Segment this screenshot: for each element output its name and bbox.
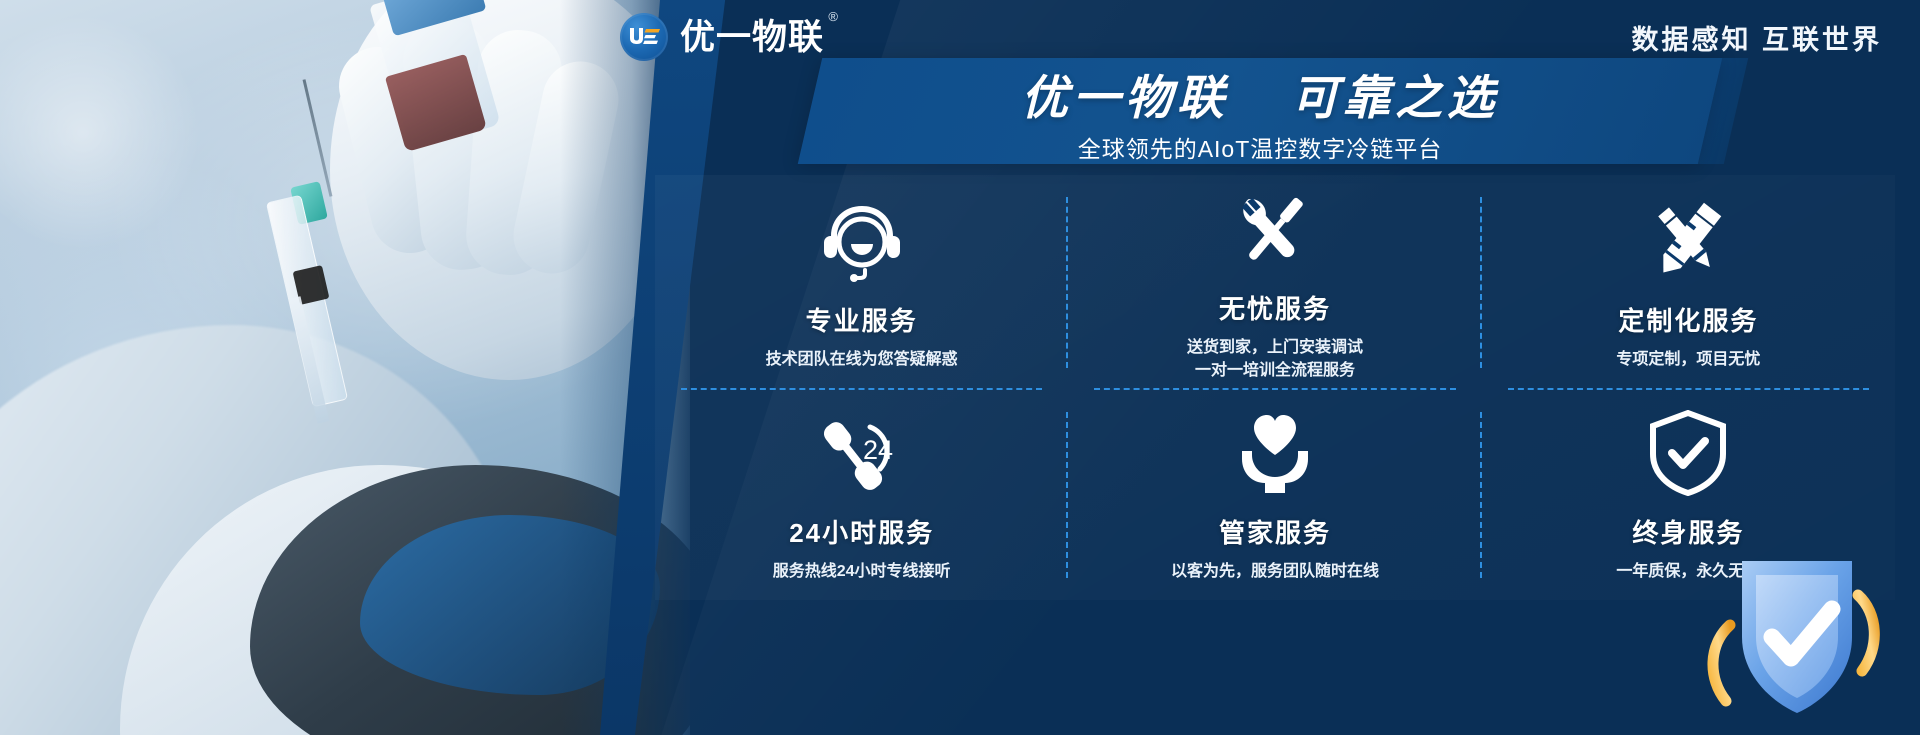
brand-name: 优一物联 ®: [680, 20, 824, 55]
brand-name-text: 优一物联: [680, 18, 824, 57]
service-card-desc-line: 服务热线24小时专线接听: [773, 560, 951, 583]
shield-check-badge-icon: [1702, 551, 1892, 731]
service-card-desc-line: 技术团队在线为您答疑解惑: [766, 348, 958, 371]
service-card-title: 无忧服务: [1219, 289, 1331, 326]
service-card-customized[interactable]: 定制化服务 专项定制，项目无忧: [1482, 175, 1895, 390]
wrench-screwdriver-tools-icon: [1231, 183, 1319, 275]
service-card-desc-line: 送货到家，上门安装调试: [1187, 336, 1363, 359]
service-card-worryfree[interactable]: 无忧服务 送货到家，上门安装调试 一对一培训全流程服务: [1068, 175, 1481, 390]
service-card-butler[interactable]: 管家服务 以客为先，服务团队随时在线: [1068, 390, 1481, 600]
service-card-title: 24小时服务: [789, 513, 934, 550]
headline-part-right: 可靠之选: [1291, 71, 1499, 124]
shield-check-icon: [1648, 407, 1728, 499]
sub-headline: 全球领先的AIoT温控数字冷链平台: [1078, 130, 1443, 164]
header-tagline: 数据感知 互联世界: [1631, 18, 1882, 57]
phone-24h-icon: 24: [816, 407, 908, 499]
brand-logo[interactable]: 优一物联 ®: [620, 13, 824, 61]
service-card-desc-line: 以客为先，服务团队随时在线: [1171, 560, 1379, 583]
photo-needle: [303, 79, 333, 197]
registered-trademark-symbol: ®: [828, 10, 839, 23]
service-card-desc: 以客为先，服务团队随时在线: [1171, 560, 1379, 583]
hero-photo-vaccine-syringe: [0, 0, 690, 735]
service-card-desc-line: 一对一培训全流程服务: [1187, 359, 1363, 382]
service-card-title: 专业服务: [806, 301, 918, 338]
service-card-desc: 专项定制，项目无忧: [1616, 348, 1760, 371]
ue-monogram-icon: [620, 13, 668, 61]
service-card-title: 终身服务: [1632, 513, 1744, 550]
headset-support-icon: [819, 195, 905, 287]
service-card-desc-line: 专项定制，项目无忧: [1616, 348, 1760, 371]
service-card-desc: 技术团队在线为您答疑解惑: [766, 348, 958, 371]
service-card-title: 定制化服务: [1618, 301, 1758, 338]
service-card-desc: 送货到家，上门安装调试 一对一培训全流程服务: [1187, 336, 1363, 382]
service-card-24h[interactable]: 24 24小时服务 服务热线24小时专线接听: [655, 390, 1068, 600]
heart-in-hands-icon: [1232, 407, 1318, 499]
pencil-ruler-icon: [1645, 195, 1731, 287]
service-card-title: 管家服务: [1219, 513, 1331, 550]
promo-banner: 优一物联 ® 数据感知 互联世界 优一物联 可靠之选 全球领先的AIoT温控数字…: [0, 0, 1920, 735]
headline: 优一物联 可靠之选: [1021, 59, 1499, 128]
headline-block: 优一物联 可靠之选 全球领先的AIoT温控数字冷链平台: [810, 58, 1710, 164]
svg-text:24: 24: [863, 435, 893, 465]
service-card-desc: 服务热线24小时专线接听: [773, 560, 951, 583]
headline-part-left: 优一物联: [1021, 71, 1229, 124]
service-card-professional[interactable]: 专业服务 技术团队在线为您答疑解惑: [655, 175, 1068, 390]
service-card-grid: 专业服务 技术团队在线为您答疑解惑: [655, 175, 1895, 600]
